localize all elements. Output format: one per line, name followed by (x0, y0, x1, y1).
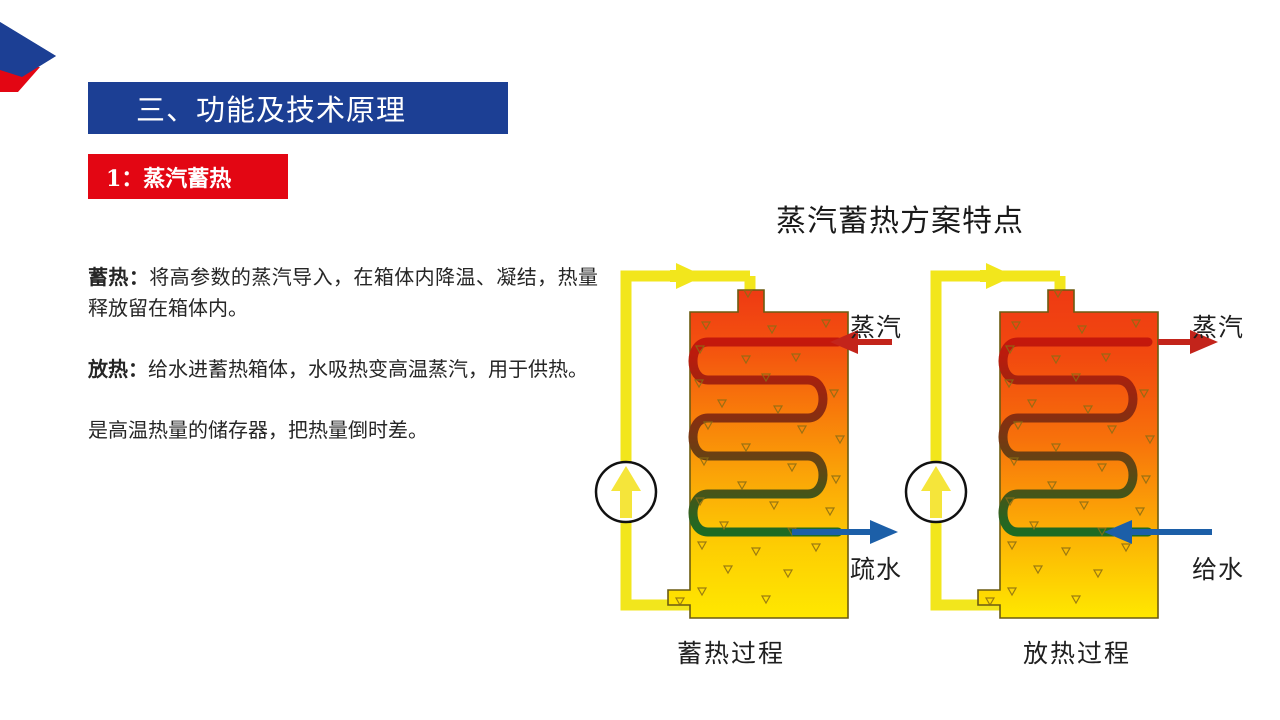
section-title-bar: 三、功能及技术原理 (88, 82, 508, 134)
pump-symbol (596, 462, 656, 522)
diagram-discharging: 蒸汽 给水 放热过程 (902, 250, 1240, 670)
paragraph-heat-storage: 蓄热：将高参数的蒸汽导入，在箱体内降温、凝结，热量释放留在箱体内。 (88, 262, 598, 324)
loop-flow-arrow-icon (670, 263, 704, 289)
steam-port-label: 蒸汽 (850, 308, 902, 344)
steam-port-label: 蒸汽 (1192, 308, 1244, 344)
diagram-charging: 蒸汽 疏水 蓄热过程 (592, 250, 930, 670)
paragraph-body: 是高温热量的储存器，把热量倒时差。 (88, 418, 428, 442)
diagram-title: 蒸汽蓄热方案特点 (660, 196, 1140, 240)
decorative-flag (0, 22, 58, 94)
section-title-text: 三、功能及技术原理 (88, 87, 406, 129)
body-text-block: 蓄热：将高参数的蒸汽导入，在箱体内降温、凝结，热量释放留在箱体内。 放热：给水进… (88, 262, 598, 446)
water-arrow-icon (870, 520, 898, 544)
diagram-discharging-graphic (902, 250, 1240, 670)
paragraph-heat-release: 放热：给水进蓄热箱体，水吸热变高温蒸汽，用于供热。 (88, 354, 598, 385)
water-port-label: 疏水 (850, 550, 902, 586)
paragraph-body: 给水进蓄热箱体，水吸热变高温蒸汽，用于供热。 (148, 357, 588, 381)
decorative-flag-icon (0, 22, 58, 94)
sub-section-label-text: 1：蒸汽蓄热 (88, 161, 231, 193)
pump-symbol (906, 462, 966, 522)
diagram-charging-caption: 蓄热过程 (616, 634, 846, 670)
paragraph-body: 将高参数的蒸汽导入，在箱体内降温、凝结，热量释放留在箱体内。 (88, 265, 598, 320)
paragraph-lead: 蓄热： (88, 265, 149, 289)
water-port-label: 给水 (1192, 550, 1244, 586)
diagram-area: 蒸汽 疏水 蓄热过程 (592, 250, 1268, 670)
loop-flow-arrow-icon (980, 263, 1014, 289)
slide-canvas: 三、功能及技术原理 1：蒸汽蓄热 蓄热：将高参数的蒸汽导入，在箱体内降温、凝结，… (0, 0, 1280, 720)
paragraph-summary: 是高温热量的储存器，把热量倒时差。 (88, 415, 598, 446)
paragraph-lead: 放热： (88, 357, 148, 381)
sub-section-label: 1：蒸汽蓄热 (88, 154, 288, 199)
diagram-discharging-caption: 放热过程 (962, 634, 1192, 670)
